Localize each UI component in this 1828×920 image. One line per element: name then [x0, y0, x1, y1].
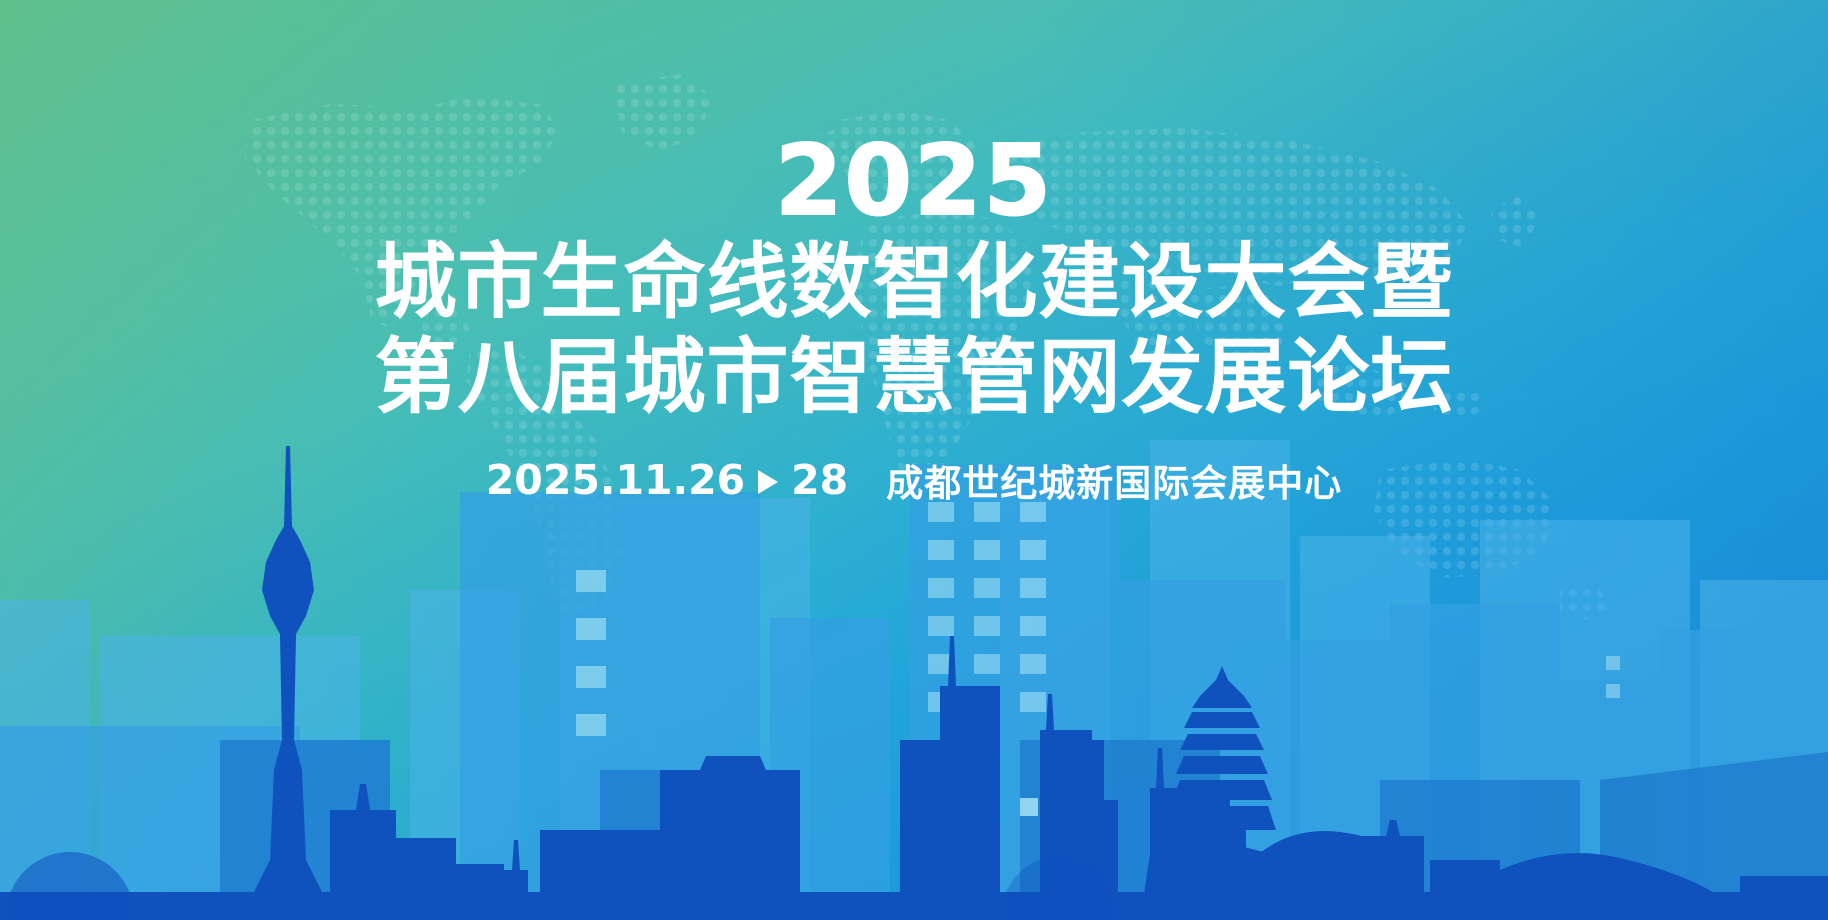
triangle-right-icon: [758, 470, 778, 494]
event-title-line-1: 城市生命线数智化建设大会暨: [0, 235, 1828, 330]
event-venue: 成都世纪城新国际会展中心: [886, 453, 1342, 507]
event-meta: 2025.11.26 28 成都世纪城新国际会展中心: [0, 453, 1828, 507]
event-date-start: 2025.11.26: [486, 456, 745, 504]
conference-banner: 2025 城市生命线数智化建设大会暨 第八届城市智慧管网发展论坛 2025.11…: [0, 0, 1828, 920]
event-title-line-2: 第八届城市智慧管网发展论坛: [0, 330, 1828, 425]
event-title: 城市生命线数智化建设大会暨 第八届城市智慧管网发展论坛: [0, 235, 1828, 425]
banner-content: 2025 城市生命线数智化建设大会暨 第八届城市智慧管网发展论坛 2025.11…: [0, 0, 1828, 507]
event-date-end: 28: [791, 456, 848, 504]
event-year: 2025: [0, 132, 1828, 229]
city-skyline-illustration: [0, 440, 1828, 920]
